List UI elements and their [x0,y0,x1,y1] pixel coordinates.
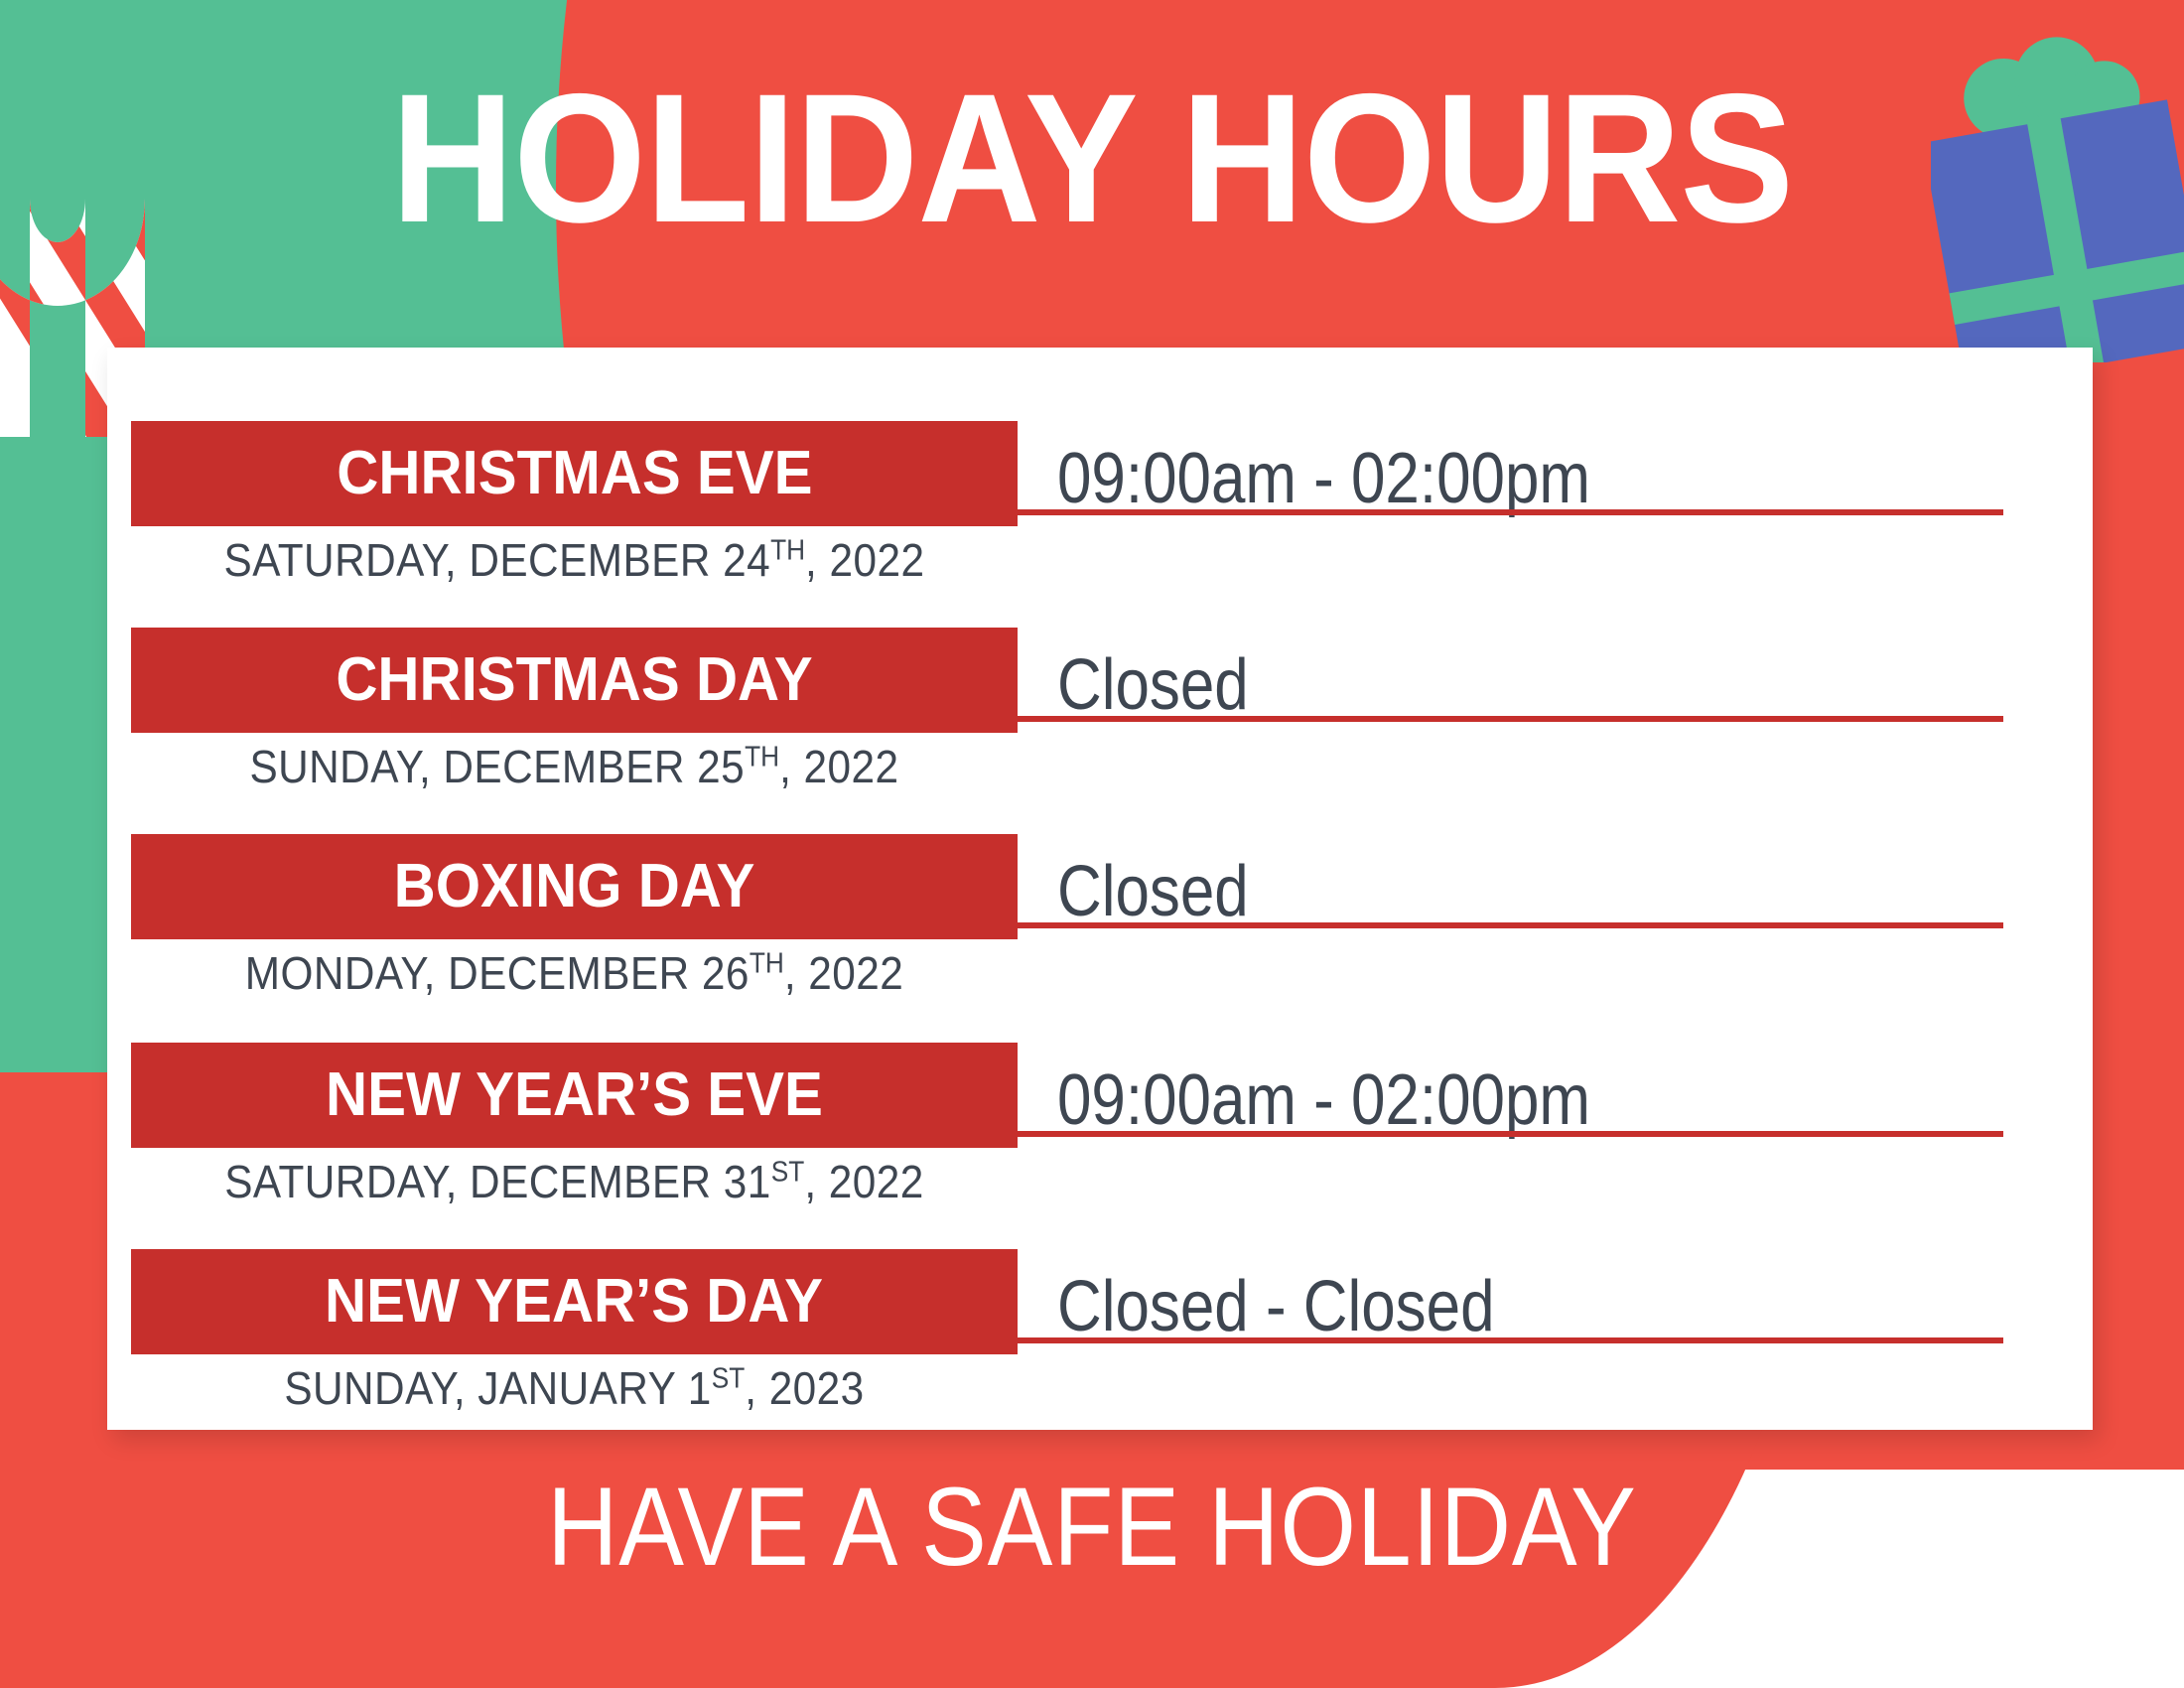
table-row: CHRISTMAS DAY SUNDAY, DECEMBER 25TH, 202… [107,628,2093,836]
date-ordinal: TH [770,535,805,567]
hours-cell: Closed [1006,820,2003,939]
hours-value: 09:00am - 02:00pm [1057,1064,1590,1136]
holiday-date: SATURDAY, DECEMBER 31ST, 2022 [167,1154,983,1211]
holiday-banner: BOXING DAY [131,834,1018,939]
hours-cell: 09:00am - 02:00pm [1006,1029,2003,1148]
hours-underline [1006,509,2003,515]
holiday-banner: CHRISTMAS DAY [131,628,1018,733]
holiday-banner: CHRISTMAS EVE [131,421,1018,526]
holiday-date: SUNDAY, JANUARY 1ST, 2023 [167,1360,983,1418]
date-ordinal: ST [712,1363,746,1395]
date-ordinal: TH [745,742,779,774]
hours-value: Closed [1057,649,1249,721]
hours-value: Closed [1057,856,1249,927]
date-suffix: , 2022 [805,534,924,586]
holiday-name: BOXING DAY [394,856,755,917]
date-ordinal: TH [750,948,784,980]
hours-table: CHRISTMAS EVE SATURDAY, DECEMBER 24TH, 2… [107,348,2093,1430]
poster-canvas: HOLIDAY HOURS CHRISTMAS EVE SATURDAY, DE… [0,0,2184,1688]
holiday-date: SATURDAY, DECEMBER 24TH, 2022 [167,532,983,590]
table-row: CHRISTMAS EVE SATURDAY, DECEMBER 24TH, 2… [107,421,2093,630]
table-row: NEW YEAR’S EVE SATURDAY, DECEMBER 31ST, … [107,1043,2093,1251]
date-prefix: SATURDAY, DECEMBER 31 [224,1156,771,1207]
date-suffix: , 2022 [804,1156,923,1207]
hours-cell: Closed - Closed [1006,1235,2003,1354]
date-suffix: , 2023 [745,1362,864,1414]
hours-underline [1006,716,2003,722]
table-row: BOXING DAY MONDAY, DECEMBER 26TH, 2022 C… [107,834,2093,1043]
date-prefix: SUNDAY, JANUARY 1 [284,1362,711,1414]
page-title: HOLIDAY HOURS [76,68,2108,251]
hours-cell: 09:00am - 02:00pm [1006,407,2003,526]
date-prefix: SATURDAY, DECEMBER 24 [224,534,771,586]
hours-card: CHRISTMAS EVE SATURDAY, DECEMBER 24TH, 2… [107,348,2093,1430]
hours-underline [1006,1337,2003,1343]
holiday-name: NEW YEAR’S DAY [326,1271,824,1333]
footer-message: HAVE A SAFE HOLIDAY [131,1472,2053,1583]
table-row: NEW YEAR’S DAY SUNDAY, JANUARY 1ST, 2023… [107,1249,2093,1458]
hours-underline [1006,922,2003,928]
date-suffix: , 2022 [784,947,903,999]
holiday-banner: NEW YEAR’S DAY [131,1249,1018,1354]
holiday-name: CHRISTMAS EVE [337,443,812,504]
date-prefix: SUNDAY, DECEMBER 25 [249,741,745,792]
holiday-date: MONDAY, DECEMBER 26TH, 2022 [167,945,983,1003]
hours-cell: Closed [1006,614,2003,733]
holiday-banner: NEW YEAR’S EVE [131,1043,1018,1148]
date-suffix: , 2022 [779,741,898,792]
holiday-date: SUNDAY, DECEMBER 25TH, 2022 [167,739,983,796]
hours-underline [1006,1131,2003,1137]
holiday-name: NEW YEAR’S EVE [326,1064,823,1126]
date-ordinal: ST [771,1157,805,1189]
holiday-name: CHRISTMAS DAY [336,649,812,711]
date-prefix: MONDAY, DECEMBER 26 [245,947,750,999]
hours-value: Closed - Closed [1057,1271,1495,1342]
hours-value: 09:00am - 02:00pm [1057,443,1590,514]
